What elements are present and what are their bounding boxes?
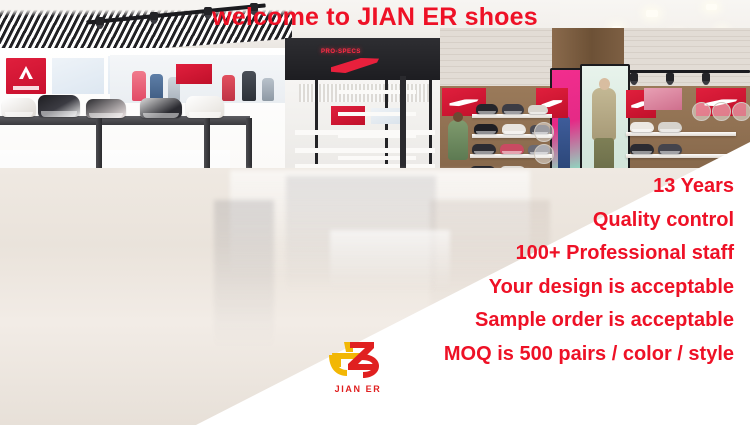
shoe — [476, 104, 498, 114]
brand-poster-red — [6, 58, 46, 94]
shoe — [528, 105, 548, 114]
shoe — [474, 124, 498, 134]
shoe — [658, 144, 682, 154]
spotlight — [666, 73, 674, 84]
page-title: welcome to JIAN ER shoes — [212, 5, 538, 30]
shoe-display-ring — [692, 102, 711, 121]
feature-item-years: 13 Years — [653, 176, 734, 196]
shoe — [38, 95, 80, 117]
feature-item-quality: Quality control — [593, 210, 734, 230]
spotlight — [630, 73, 638, 84]
poster-figure — [150, 74, 163, 101]
shoe — [140, 98, 182, 118]
feature-item-moq: MOQ is 500 pairs / color / style — [444, 344, 734, 364]
shoe-display-ring — [732, 102, 750, 121]
shoe — [502, 124, 526, 134]
logo-wordmark: JIAN ER — [312, 384, 404, 394]
aisle-brand-sign — [176, 64, 212, 84]
wood-shelf — [626, 132, 736, 136]
wall-poster — [644, 88, 682, 110]
shoe — [630, 144, 654, 154]
interior-display — [371, 108, 401, 124]
poster-figure — [242, 71, 256, 101]
shoe-display-ring — [534, 122, 554, 142]
poster-figure — [222, 75, 235, 101]
headline-bar: welcome to JIAN ER shoes — [0, 0, 750, 34]
led-model-head — [599, 78, 610, 90]
shoe — [630, 122, 654, 132]
feature-item-staff: 100+ Professional staff — [516, 243, 734, 263]
shopper-figure — [448, 120, 468, 160]
poster-figure — [262, 78, 274, 101]
brand-mark-icon — [19, 66, 33, 79]
led-model-figure — [592, 88, 616, 140]
shoe — [500, 144, 524, 154]
interior-shelf — [295, 148, 435, 153]
wall-poster — [52, 58, 104, 94]
shoe-display-ring — [534, 144, 554, 164]
center-storefront: PRO-SPECS — [285, 38, 445, 173]
glass-mullion — [315, 80, 318, 173]
shoe — [502, 104, 524, 114]
shoe — [186, 96, 224, 118]
glass-mullion — [429, 80, 432, 173]
shoe — [2, 98, 36, 117]
storefront-sign-text: PRO-SPECS — [321, 49, 361, 55]
brand-logo: JIAN ER — [312, 336, 404, 394]
shoe — [658, 122, 682, 132]
shopper-head — [453, 112, 463, 122]
brand-poster-caption — [13, 86, 39, 90]
aisle-post — [400, 76, 406, 176]
jianer-monogram-icon — [320, 336, 392, 380]
feature-list: 13 Years Quality control 100+ Profession… — [174, 176, 734, 364]
feature-item-sample: Sample order is acceptable — [475, 310, 734, 330]
promo-banner: PRO-SPECS — [0, 0, 750, 425]
shoe-display-ring — [712, 102, 731, 121]
wood-shelf — [472, 114, 552, 118]
feature-item-design: Your design is acceptable — [489, 277, 734, 297]
spotlight — [702, 73, 710, 84]
brand-mark-icon — [449, 99, 478, 106]
shoe — [472, 144, 496, 154]
poster-figure — [132, 71, 146, 101]
shoe — [86, 99, 126, 118]
